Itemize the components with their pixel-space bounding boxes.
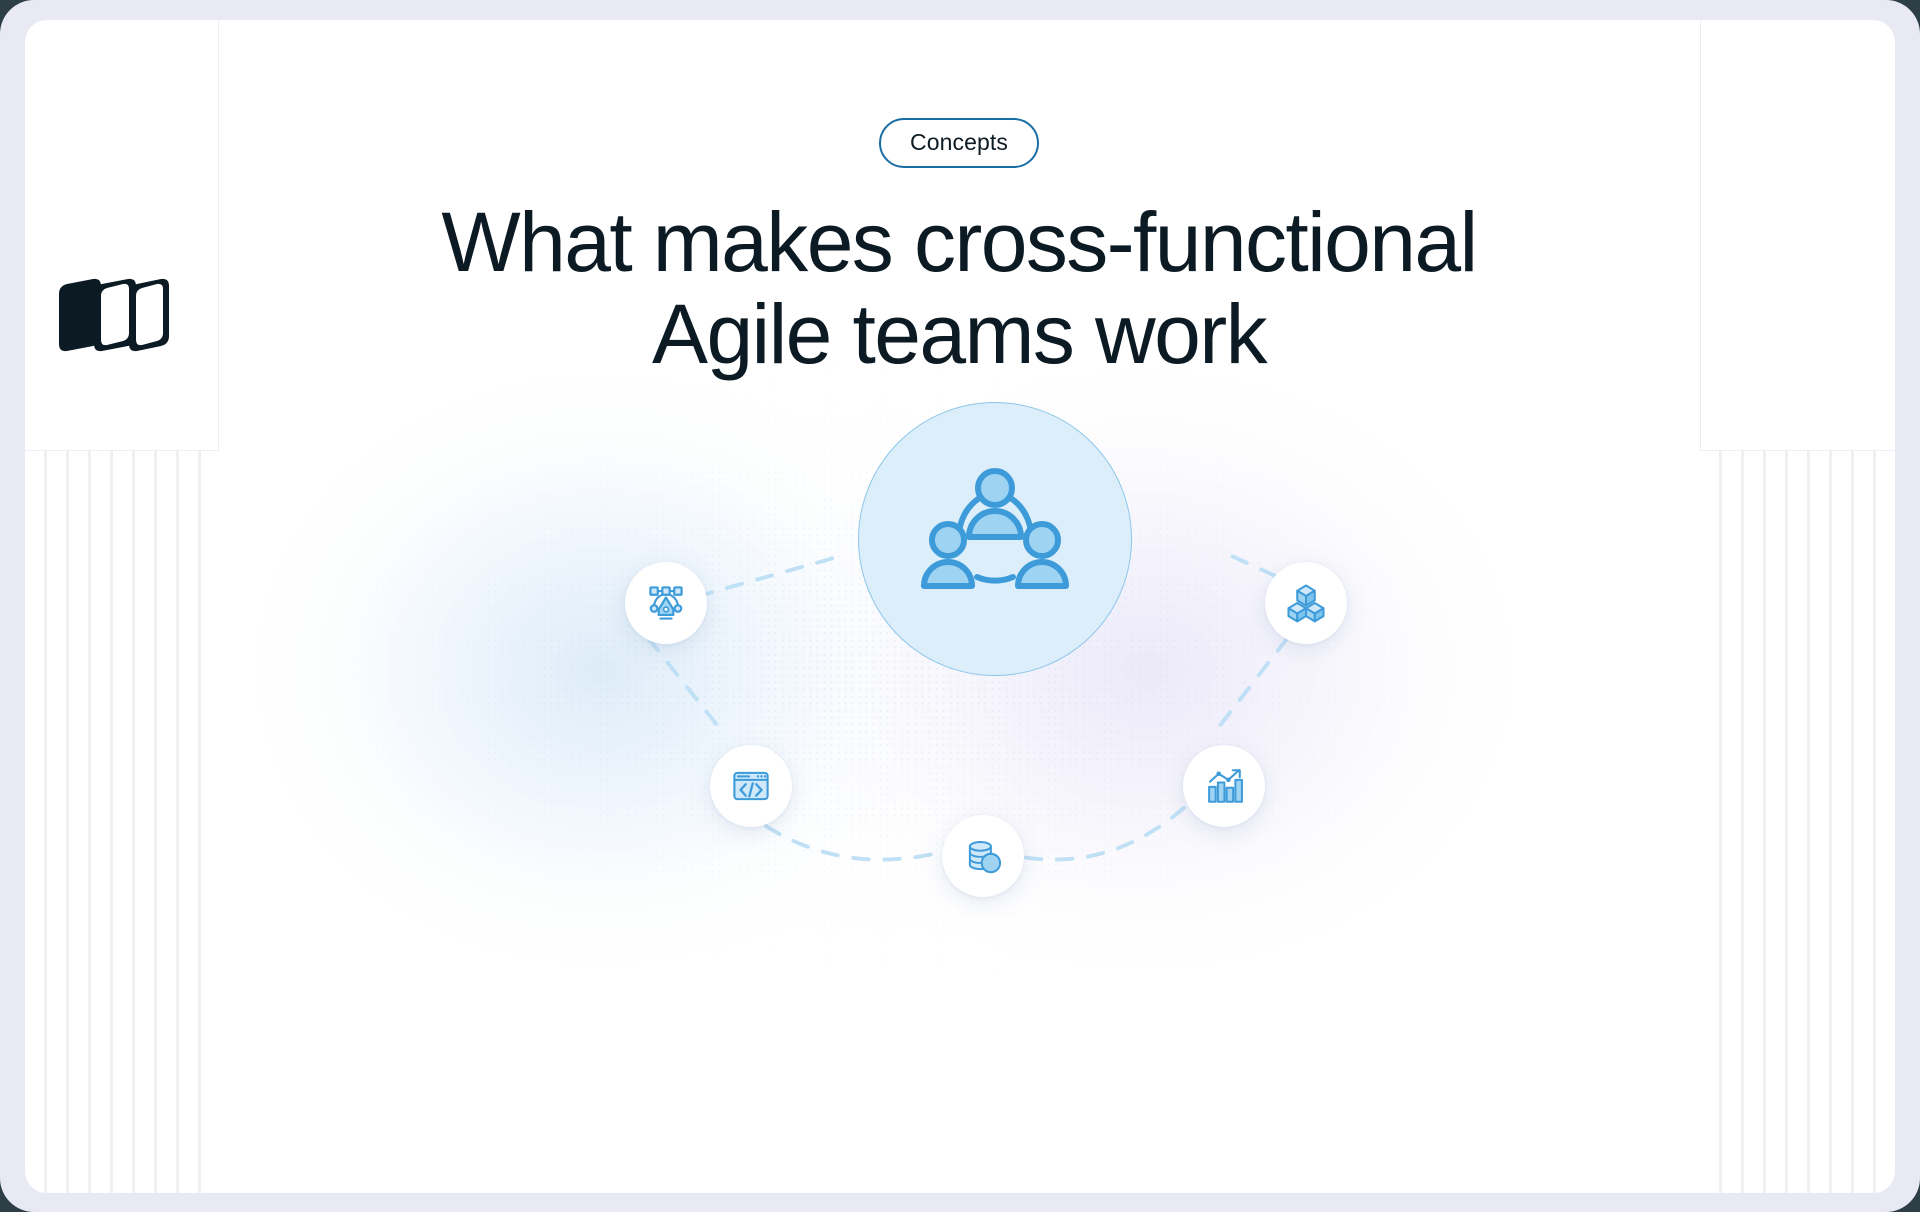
database-icon <box>962 835 1004 877</box>
node-data[interactable] <box>942 815 1024 897</box>
node-modules[interactable] <box>1265 562 1347 644</box>
node-engineering[interactable] <box>710 745 792 827</box>
content-card: Concepts What makes cross-functional Agi… <box>25 20 1895 1193</box>
concept-diagram <box>25 350 1895 1050</box>
node-analytics[interactable] <box>1183 745 1265 827</box>
connector-analytics-data <box>1009 808 1184 860</box>
node-design[interactable] <box>625 562 707 644</box>
connector-design-team <box>697 556 839 596</box>
code-window-icon <box>730 765 772 807</box>
page-title: What makes cross-functional Agile teams … <box>218 197 1700 380</box>
connector-design-code <box>648 638 722 731</box>
company-logo-icon <box>53 278 171 352</box>
category-badge[interactable]: Concepts <box>879 118 1039 168</box>
people-network-icon <box>915 459 1075 619</box>
cubes-icon <box>1285 582 1327 624</box>
page-frame: Concepts What makes cross-functional Agi… <box>0 0 1920 1212</box>
pen-tool-icon <box>644 581 688 625</box>
company-logo[interactable] <box>53 278 171 352</box>
page-header: Concepts What makes cross-functional Agi… <box>218 20 1700 380</box>
bar-chart-icon <box>1203 765 1245 807</box>
node-team-collaboration[interactable] <box>858 402 1132 676</box>
connector-modules-analytics <box>1215 638 1287 731</box>
